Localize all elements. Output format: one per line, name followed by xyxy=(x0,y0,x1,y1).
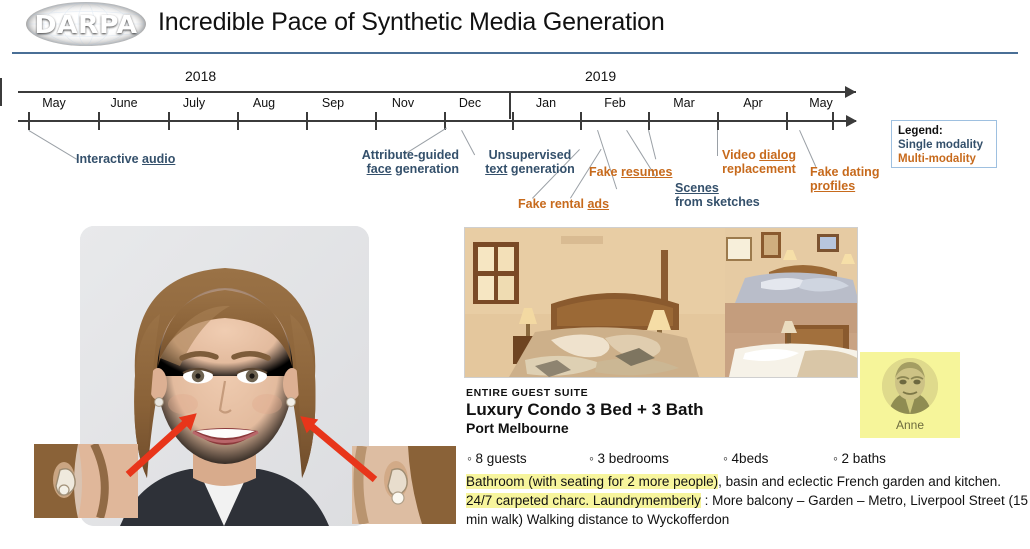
timeline-tick xyxy=(580,112,582,130)
leader-line xyxy=(28,130,77,160)
description-highlight-2: 24/7 carpeted charc. Laundrymemberly xyxy=(466,493,701,508)
event-text-a: Unsupervised xyxy=(489,148,572,162)
timeline: 2018 2019 May June July Aug Sep Nov Dec … xyxy=(0,58,1030,218)
host-avatar xyxy=(882,358,938,414)
listing-kicker: ENTIRE GUEST SUITE xyxy=(466,387,588,399)
month-label-may-2018: May xyxy=(24,96,84,110)
listing-title: Luxury Condo 3 Bed + 3 Bath xyxy=(466,400,704,420)
timeline-event-interactive-audio: Interactive audio xyxy=(76,152,175,166)
right-earring-crop-image xyxy=(352,446,456,524)
slide-root: DARPA Incredible Pace of Synthetic Media… xyxy=(0,0,1030,549)
left-earring-zoom-crop xyxy=(34,444,138,518)
timeline-tick xyxy=(237,112,239,130)
year-divider-2018-2019 xyxy=(509,91,511,119)
timeline-event-scenes-from-sketches: Scenes from sketches xyxy=(675,181,760,209)
event-text-b: dialog xyxy=(759,148,796,162)
timeline-tick xyxy=(375,112,377,130)
amenity-guests: ◦ 8 guests xyxy=(467,451,589,466)
darpa-globe-logo: DARPA xyxy=(26,2,146,46)
host-card[interactable]: Anne xyxy=(860,352,960,438)
legend-item-single: Single modality xyxy=(898,138,990,152)
event-text-a: Attribute-guided xyxy=(362,148,459,162)
event-text-b: resumes xyxy=(621,165,672,179)
month-label-sep: Sep xyxy=(303,96,363,110)
timeline-tick xyxy=(168,112,170,130)
page-title: Incredible Pace of Synthetic Media Gener… xyxy=(158,8,665,37)
month-label-july: July xyxy=(164,96,224,110)
bedroom-photo-main-image xyxy=(465,228,725,377)
event-text-b: from sketches xyxy=(675,195,760,209)
timeline-tick xyxy=(512,112,514,130)
amenity-baths-label: 2 baths xyxy=(842,451,886,466)
event-text-b: text xyxy=(485,162,507,176)
timeline-event-attribute-guided-face-generation: Attribute-guided face generation xyxy=(339,148,459,176)
bedroom-photo-bottom-right-image xyxy=(725,303,858,377)
bedroom-photo-top-right-image xyxy=(725,228,858,303)
timeline-tick xyxy=(648,112,650,130)
listing-photo-tertiary[interactable] xyxy=(725,303,858,377)
event-text-a: Fake xyxy=(589,165,621,179)
timeline-tick xyxy=(717,112,719,130)
listing-photo-secondary[interactable] xyxy=(725,228,858,303)
event-text-a: Scenes xyxy=(675,181,719,195)
timeline-tick xyxy=(786,112,788,130)
event-text-b: face xyxy=(367,162,392,176)
month-label-nov: Nov xyxy=(373,96,433,110)
month-label-aug: Aug xyxy=(234,96,294,110)
legend-box: Legend: Single modality Multi-modality xyxy=(891,120,997,168)
timeline-event-fake-resumes: Fake resumes xyxy=(589,165,672,179)
event-text-a: Video xyxy=(722,148,759,162)
timeline-tick xyxy=(28,112,30,130)
timeline-event-unsupervised-text-generation: Unsupervised text generation xyxy=(475,148,585,176)
listing-description: Bathroom (with seating for 2 more people… xyxy=(466,472,1030,529)
host-avatar-photo-image xyxy=(882,358,938,414)
event-text-b: ads xyxy=(587,197,609,211)
month-label-feb: Feb xyxy=(585,96,645,110)
event-text-c: generation xyxy=(507,162,574,176)
amenity-baths: ◦ 2 baths xyxy=(833,451,886,466)
leader-line xyxy=(597,130,617,189)
amenity-beds-label: 4beds xyxy=(732,451,769,466)
month-label-mar: Mar xyxy=(654,96,714,110)
listing-location: Port Melbourne xyxy=(466,420,569,436)
right-earring-zoom-crop xyxy=(352,446,456,524)
left-earring-crop-image xyxy=(34,444,138,518)
header-divider xyxy=(12,52,1018,54)
timeline-event-fake-rental-ads: Fake rental ads xyxy=(518,197,609,211)
timeline-event-video-dialog-replacement: Video dialog replacement xyxy=(712,148,806,176)
event-text-a: Interactive xyxy=(76,152,142,166)
amenity-guests-label: 8 guests xyxy=(476,451,527,466)
month-label-jan: Jan xyxy=(516,96,576,110)
host-name: Anne xyxy=(860,418,960,432)
month-label-dec: Dec xyxy=(440,96,500,110)
listing-photo-main[interactable] xyxy=(465,228,725,377)
timeline-tick xyxy=(98,112,100,130)
amenity-beds: ◦ 4beds xyxy=(723,451,833,466)
leader-line xyxy=(461,130,475,155)
event-text-b: audio xyxy=(142,152,175,166)
legend-title: Legend: xyxy=(898,124,990,138)
timeline-tick xyxy=(832,112,834,130)
darpa-wordmark: DARPA xyxy=(26,2,146,46)
month-axis-arrowhead xyxy=(846,115,857,127)
timeline-year-2019: 2019 xyxy=(585,68,616,84)
event-text-c: generation xyxy=(392,162,459,176)
event-text-a: Fake dating xyxy=(810,165,879,179)
legend-item-multi: Multi-modality xyxy=(898,152,990,166)
leader-line xyxy=(648,130,656,159)
event-text-b: profiles xyxy=(810,179,855,193)
year-axis-left-cap xyxy=(0,78,2,106)
timeline-tick xyxy=(306,112,308,130)
listing-amenities-row: ◦ 8 guests ◦ 3 bedrooms ◦ 4beds ◦ 2 bath… xyxy=(467,451,947,466)
event-text-c: replacement xyxy=(722,162,796,176)
event-text-a: Fake rental xyxy=(518,197,587,211)
month-label-apr: Apr xyxy=(723,96,783,110)
description-plain-1: , basin and eclectic French garden and k… xyxy=(718,474,1001,489)
amenity-bedrooms: ◦ 3 bedrooms xyxy=(589,451,723,466)
timeline-year-2018: 2018 xyxy=(185,68,216,84)
synthetic-face-panel xyxy=(80,226,369,526)
description-highlight-1: Bathroom (with seating for 2 more people… xyxy=(466,474,718,489)
timeline-event-fake-dating-profiles: Fake dating profiles xyxy=(810,165,879,193)
listing-photo-gallery[interactable] xyxy=(464,227,858,378)
timeline-month-axis xyxy=(18,120,856,122)
amenity-bedrooms-label: 3 bedrooms xyxy=(598,451,669,466)
month-label-may-2019: May xyxy=(791,96,851,110)
month-label-june: June xyxy=(94,96,154,110)
timeline-year-axis xyxy=(18,91,856,93)
